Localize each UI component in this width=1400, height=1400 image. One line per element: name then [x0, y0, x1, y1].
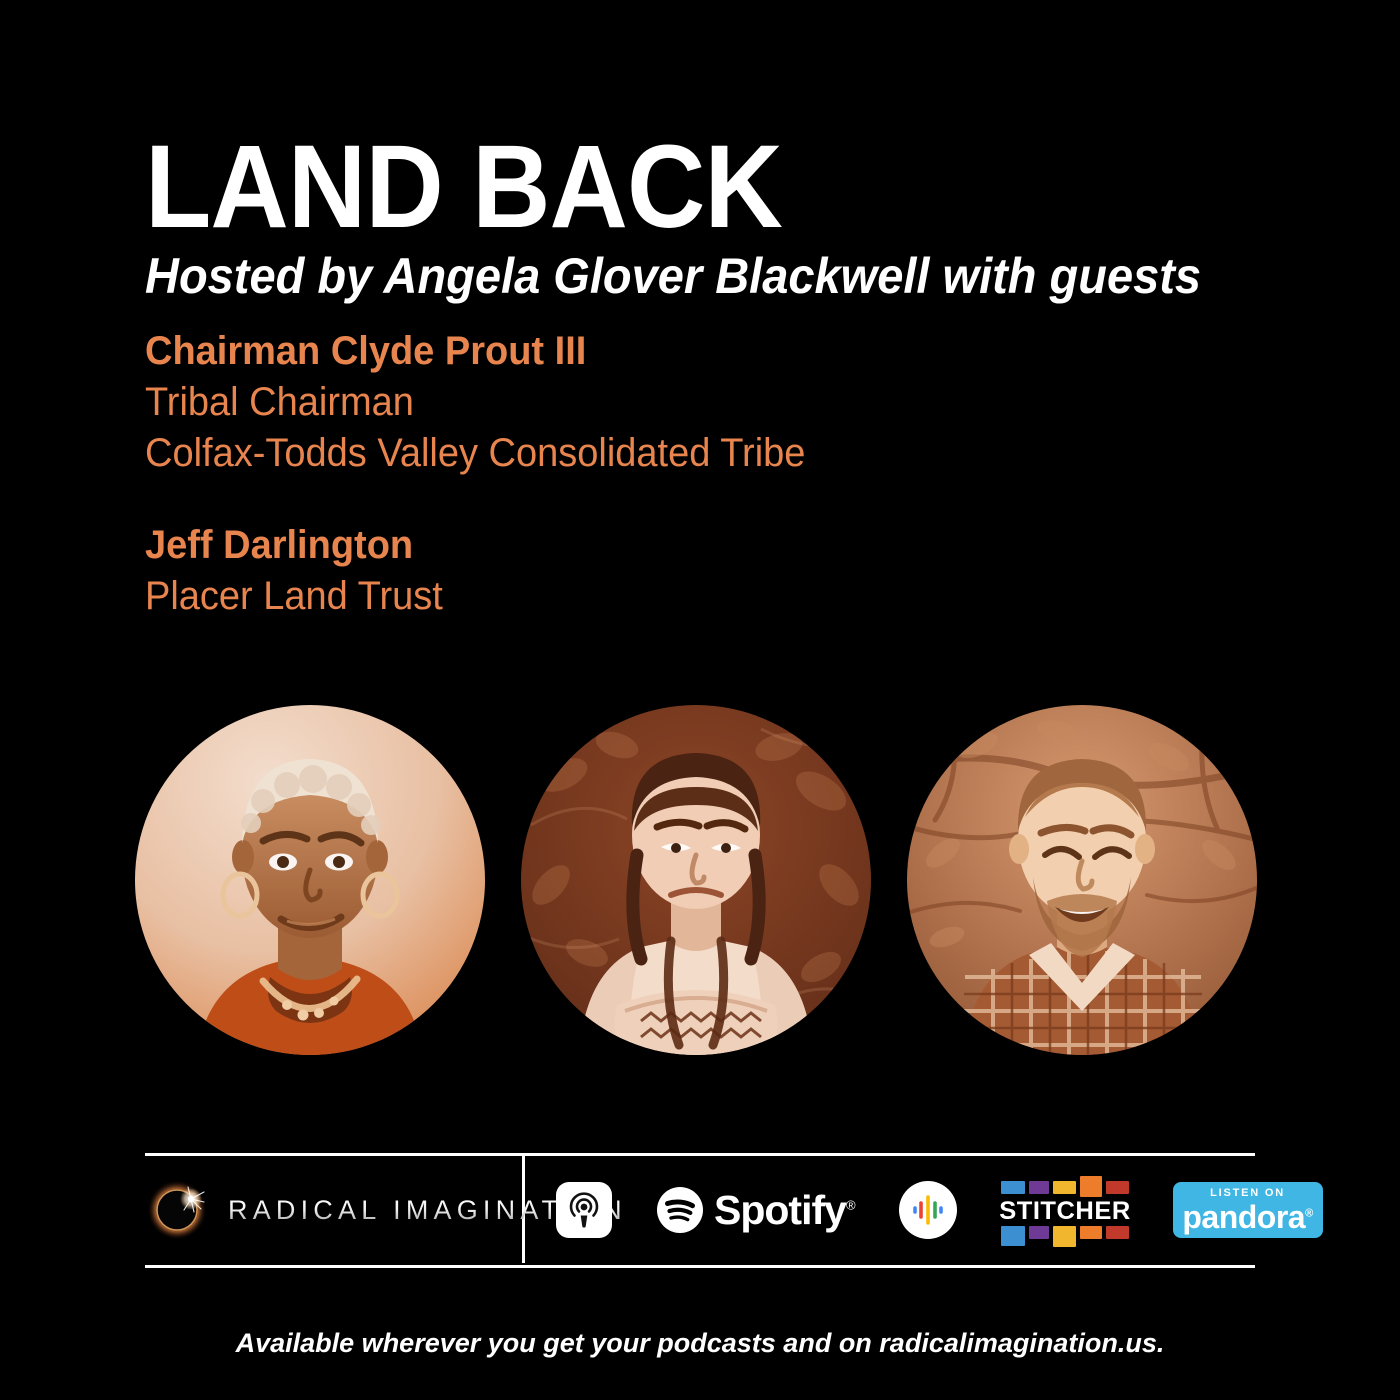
stitcher-wordmark: STITCHER: [999, 1198, 1130, 1224]
page-title: LAND BACK: [145, 128, 782, 246]
footer-divider-bottom: [145, 1265, 1255, 1268]
spotify-logo[interactable]: Spotify®: [656, 1186, 855, 1234]
footer-divider-top: [145, 1153, 1255, 1156]
guest-name: Chairman Clyde Prout III: [145, 326, 805, 377]
availability-tagline: Available wherever you get your podcasts…: [0, 1328, 1400, 1359]
guest-role: Placer Land Trust: [145, 571, 805, 622]
platform-logos: Spotify®: [556, 1172, 1323, 1248]
apple-podcasts-icon: [556, 1182, 612, 1238]
pandora-logo[interactable]: LISTEN ON pandora®: [1173, 1182, 1323, 1238]
portrait-row: [0, 705, 1400, 1055]
apple-podcasts-logo[interactable]: [556, 1182, 612, 1238]
guest-entry-2: Jeff Darlington Placer Land Trust: [145, 520, 840, 622]
google-podcasts-icon: [899, 1181, 957, 1239]
guest-entry-1: Chairman Clyde Prout III Tribal Chairman…: [145, 326, 840, 480]
spotify-icon: [656, 1186, 704, 1234]
poster-canvas: LAND BACK Hosted by Angela Glover Blackw…: [0, 0, 1400, 1400]
pandora-wordmark: pandora®: [1182, 1201, 1312, 1233]
stitcher-bars-top: [1001, 1181, 1129, 1194]
google-podcasts-logo[interactable]: [899, 1181, 957, 1239]
brand-lockup: RADICAL IMAGINATION: [146, 1172, 627, 1248]
stitcher-logo[interactable]: STITCHER: [1001, 1179, 1129, 1241]
page-subtitle: Hosted by Angela Glover Blackwell with g…: [145, 248, 1201, 304]
guest-role: Tribal Chairman: [145, 377, 805, 428]
portrait-clyde-prout: [521, 705, 871, 1055]
guest-name: Jeff Darlington: [145, 520, 805, 571]
stitcher-bars-bottom: [1001, 1226, 1129, 1239]
portrait-angela-glover-blackwell: [135, 705, 485, 1055]
spotify-wordmark: Spotify®: [714, 1187, 855, 1234]
portrait-jeff-darlington: [907, 705, 1257, 1055]
guest-list: Chairman Clyde Prout III Tribal Chairman…: [145, 326, 840, 622]
guest-organization: Colfax-Todds Valley Consolidated Tribe: [145, 428, 805, 479]
eclipse-icon: [146, 1179, 208, 1241]
pandora-prefix: LISTEN ON: [1210, 1188, 1285, 1199]
pandora-icon: LISTEN ON pandora®: [1173, 1182, 1323, 1238]
stitcher-icon: STITCHER: [1001, 1179, 1129, 1241]
